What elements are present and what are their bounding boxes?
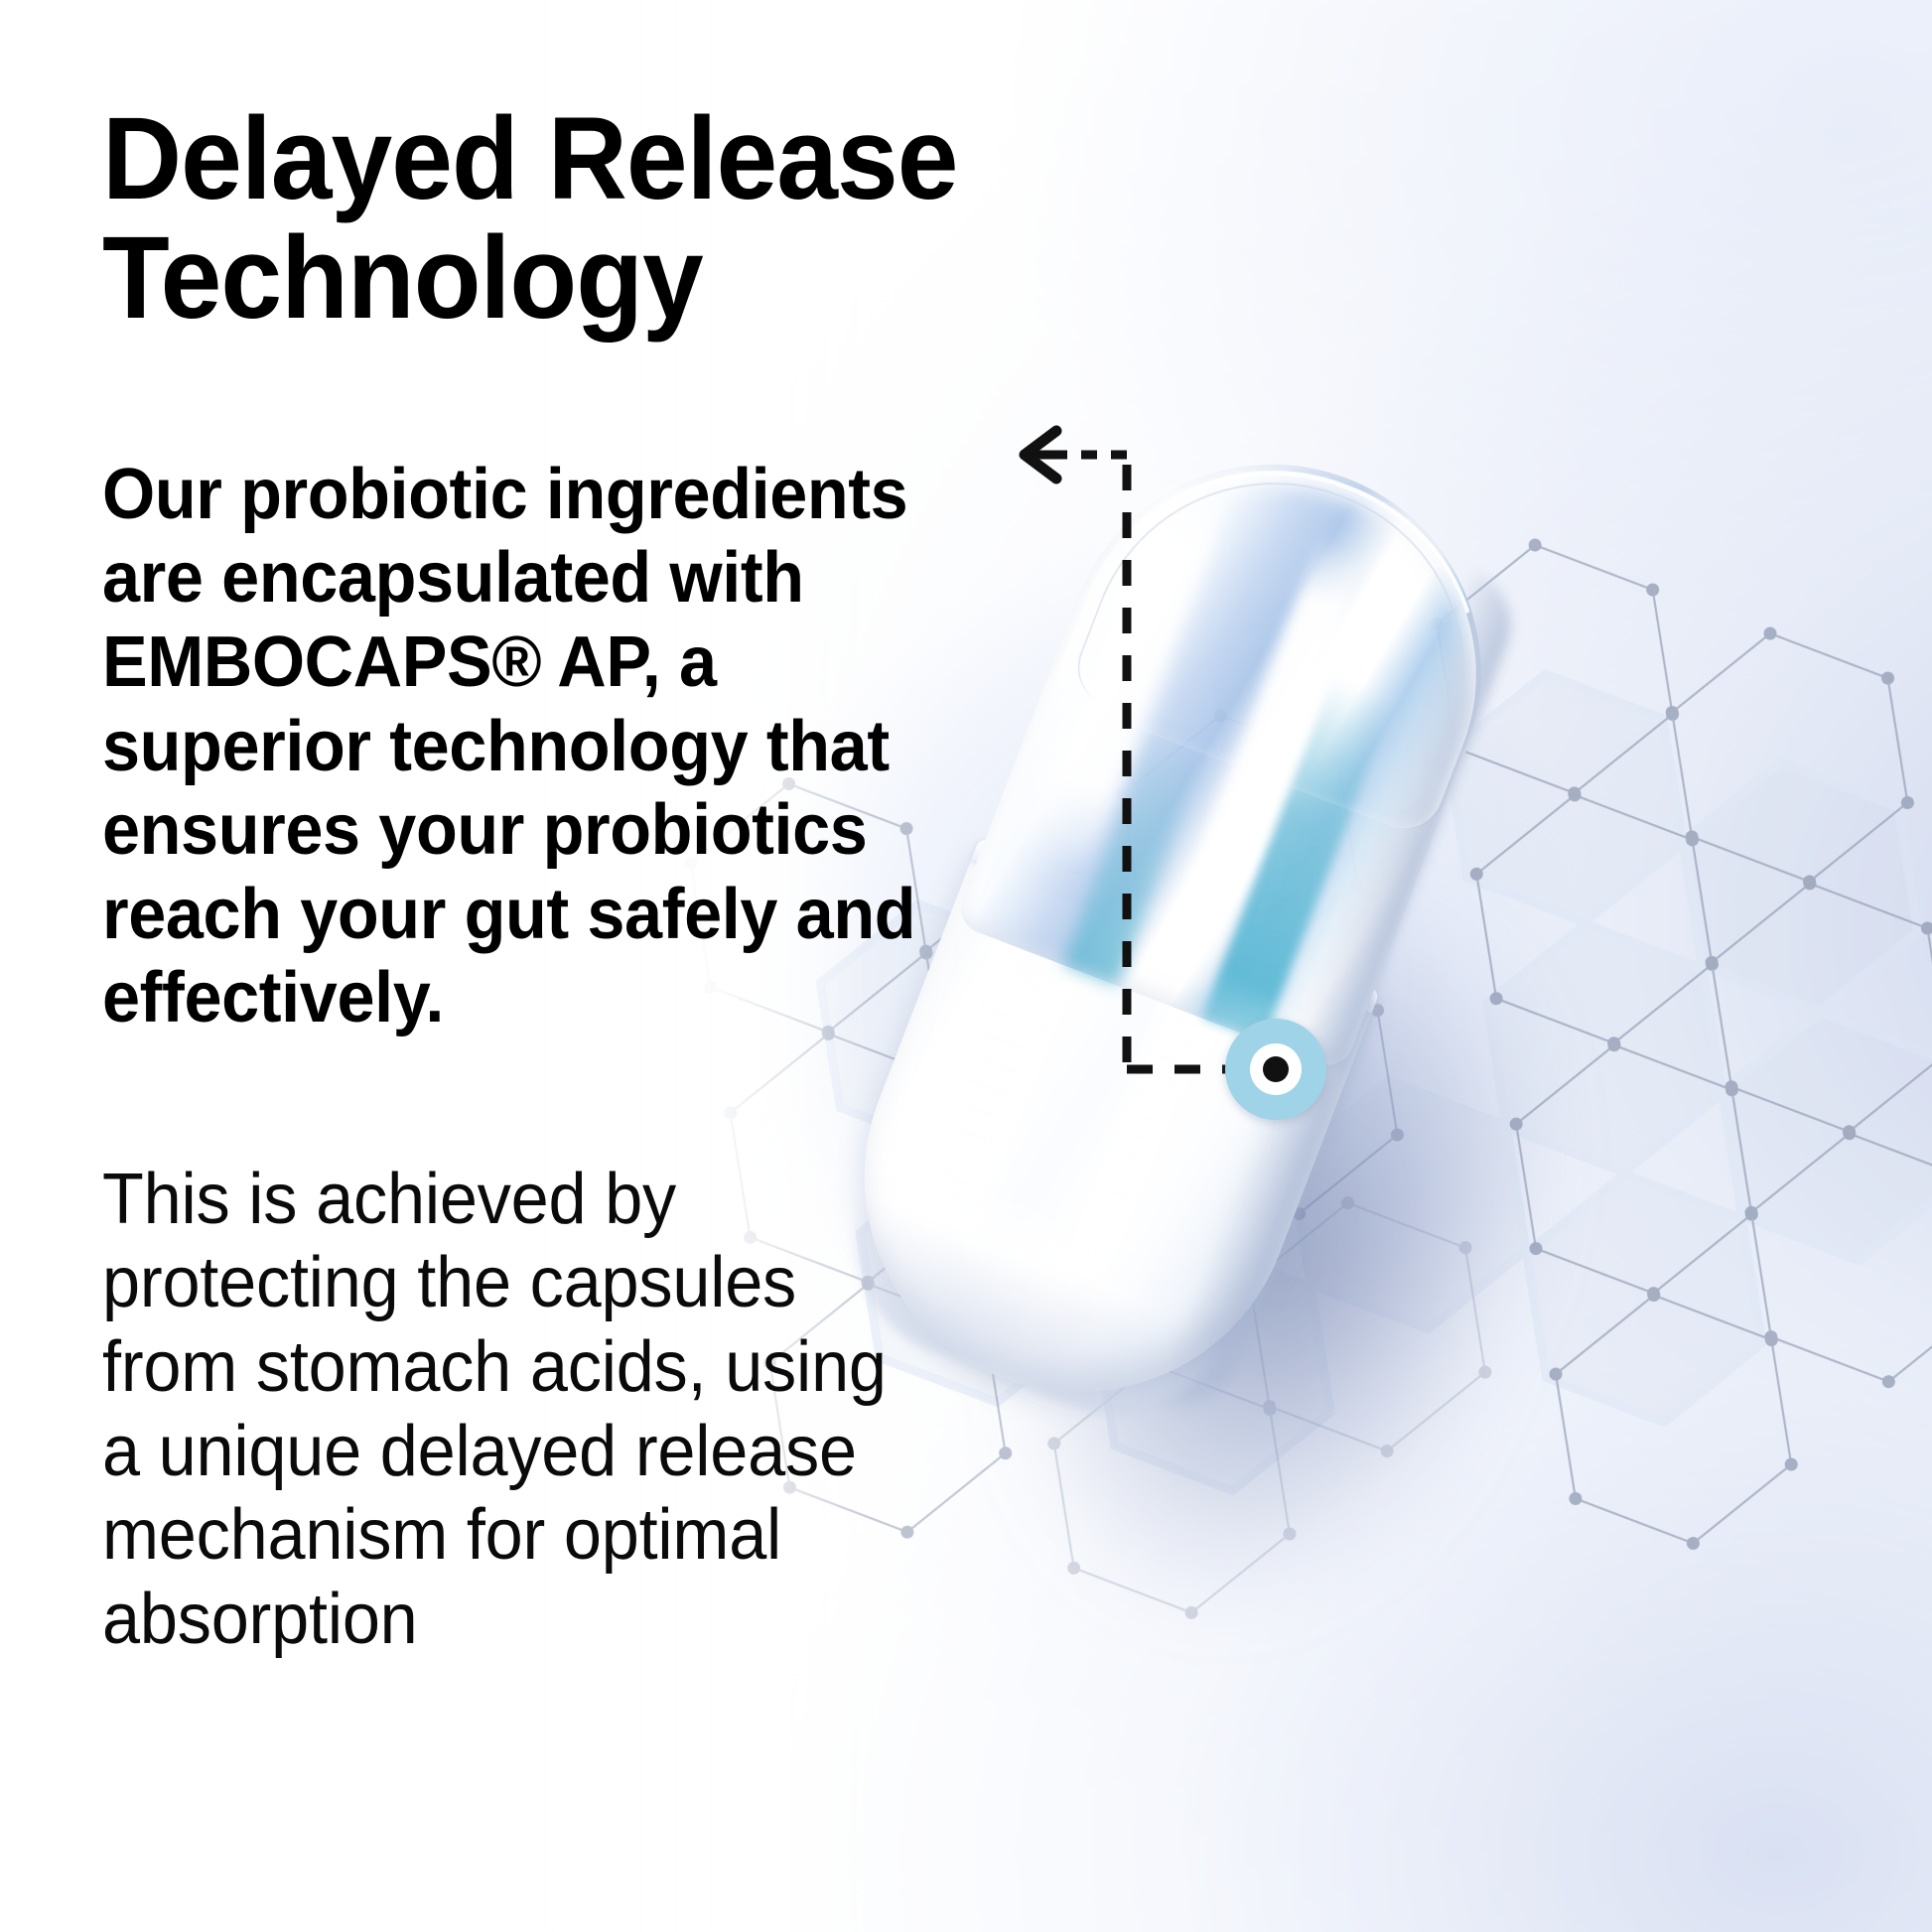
paragraph-regular: This is achieved by protecting the capsu…: [102, 1040, 913, 1662]
poster-canvas: Delayed Release Technology Our probiotic…: [0, 0, 1932, 1932]
text-column: Delayed Release Technology Our probiotic…: [102, 0, 1016, 1661]
paragraph-bold: Our probiotic ingredients are encapsulat…: [102, 339, 951, 1040]
page-title: Delayed Release Technology: [102, 0, 961, 339]
enteric-coating-callout-marker[interactable]: [1225, 1019, 1326, 1120]
callout-marker-ring: [1250, 1043, 1302, 1095]
callout-marker-dot: [1263, 1056, 1289, 1082]
